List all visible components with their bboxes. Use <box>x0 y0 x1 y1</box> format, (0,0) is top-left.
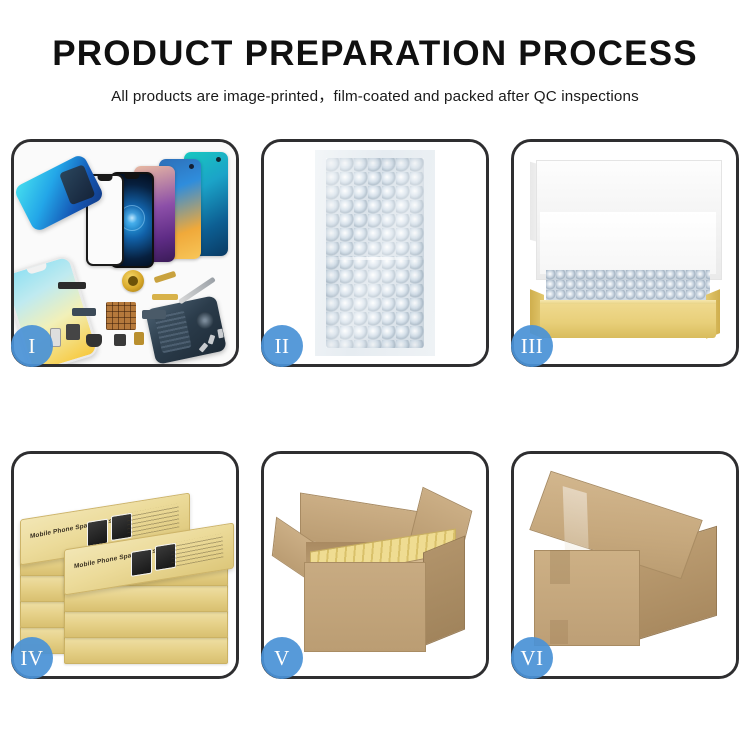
camera-punch-icon <box>216 157 221 162</box>
gold-flex-icon <box>152 294 178 300</box>
step-badge-4: IV <box>11 637 53 679</box>
foam-liner <box>540 212 716 274</box>
camera-module-icon <box>66 324 80 340</box>
box-stack-icon: Mobile Phone Spare Parts Mobile Phone Sp… <box>18 476 234 668</box>
step-panel-6[interactable]: VI <box>511 451 739 679</box>
bubble-wrap-icon <box>326 158 424 348</box>
step-panel-1[interactable]: I <box>11 139 239 367</box>
plastic-sheen <box>326 158 424 348</box>
step-badge-5: V <box>261 637 303 679</box>
chip-array-icon <box>106 302 136 330</box>
step-badge-2: II <box>261 325 303 367</box>
box-front-panel <box>540 304 716 338</box>
page-title: PRODUCT PREPARATION PROCESS <box>0 0 750 73</box>
tape-patch-icon <box>550 550 570 584</box>
header: PRODUCT PREPARATION PROCESS All products… <box>0 0 750 106</box>
step-panel-3[interactable]: III <box>511 139 739 367</box>
stacked-box <box>64 636 228 664</box>
ic-chip-icon <box>114 334 126 346</box>
gold-connector-icon <box>154 271 177 284</box>
step-badge-6: VI <box>511 637 553 679</box>
small-module-icon <box>72 308 96 316</box>
steps-grid: I II <box>11 139 739 679</box>
carton-front-panel <box>304 562 426 652</box>
step-panel-2[interactable]: II <box>261 139 489 367</box>
carton-side-panel <box>423 536 465 647</box>
speaker-coil-icon <box>122 270 144 292</box>
product-preparation-infographic: PRODUCT PREPARATION PROCESS All products… <box>0 0 750 750</box>
tape-patch-icon <box>550 620 568 644</box>
page-subtitle: All products are image-printed，film-coat… <box>0 73 750 106</box>
flex-ribbon-icon <box>142 310 166 319</box>
spec-text-lines <box>171 533 224 567</box>
battery-connector-icon <box>134 332 144 345</box>
stacked-box <box>64 610 228 638</box>
wrap-seam <box>326 257 424 260</box>
camera-punch-icon <box>189 164 194 169</box>
phone-lineup-icon <box>66 150 236 268</box>
screen-thumbnail-icon <box>131 549 152 577</box>
phone-teardown-icon <box>145 295 227 364</box>
step-panel-4[interactable]: Mobile Phone Spare Parts Mobile Phone Sp… <box>11 451 239 679</box>
flex-cable-icon <box>58 282 86 289</box>
step-panel-5[interactable]: V <box>261 451 489 679</box>
step-badge-3: III <box>511 325 553 367</box>
step-badge-1: I <box>11 325 53 367</box>
speaker-icon <box>86 334 102 347</box>
